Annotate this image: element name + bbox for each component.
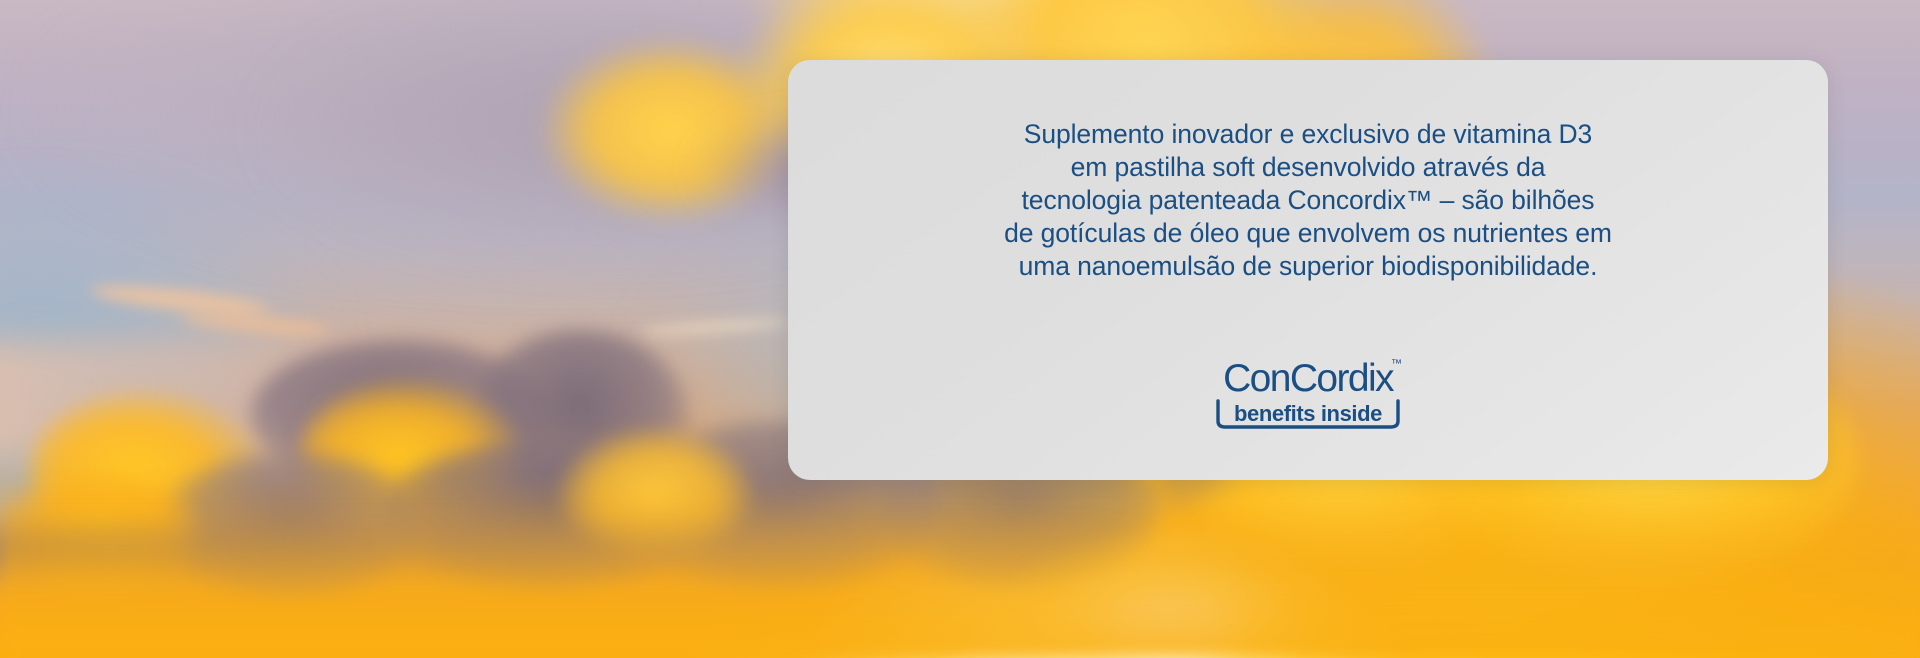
concordix-logo-graphic: ConCordix ™ benefits inside <box>1208 347 1408 433</box>
description-line-1: Suplemento inovador e exclusivo de vitam… <box>988 118 1628 151</box>
description-line-3: tecnologia patenteada Concordix™ – são b… <box>988 184 1628 217</box>
description-line-5: uma nanoemulsão de superior biodisponibi… <box>988 250 1628 283</box>
product-info-card: Suplemento inovador e exclusivo de vitam… <box>788 60 1828 480</box>
description-line-4: de gotículas de óleo que envolvem os nut… <box>988 217 1628 250</box>
product-description: Suplemento inovador e exclusivo de vitam… <box>988 118 1628 283</box>
logo-wordmark-text: ConCordix <box>1223 357 1395 400</box>
concordix-logo: ConCordix ™ benefits inside <box>1208 347 1408 433</box>
horizon-haze <box>0 478 1920 658</box>
description-line-2: em pastilha soft desenvolvido através da <box>988 151 1628 184</box>
logo-tagline-text: benefits inside <box>1234 401 1382 426</box>
logo-trademark-symbol: ™ <box>1391 358 1402 370</box>
hero-banner: Suplemento inovador e exclusivo de vitam… <box>0 0 1920 658</box>
